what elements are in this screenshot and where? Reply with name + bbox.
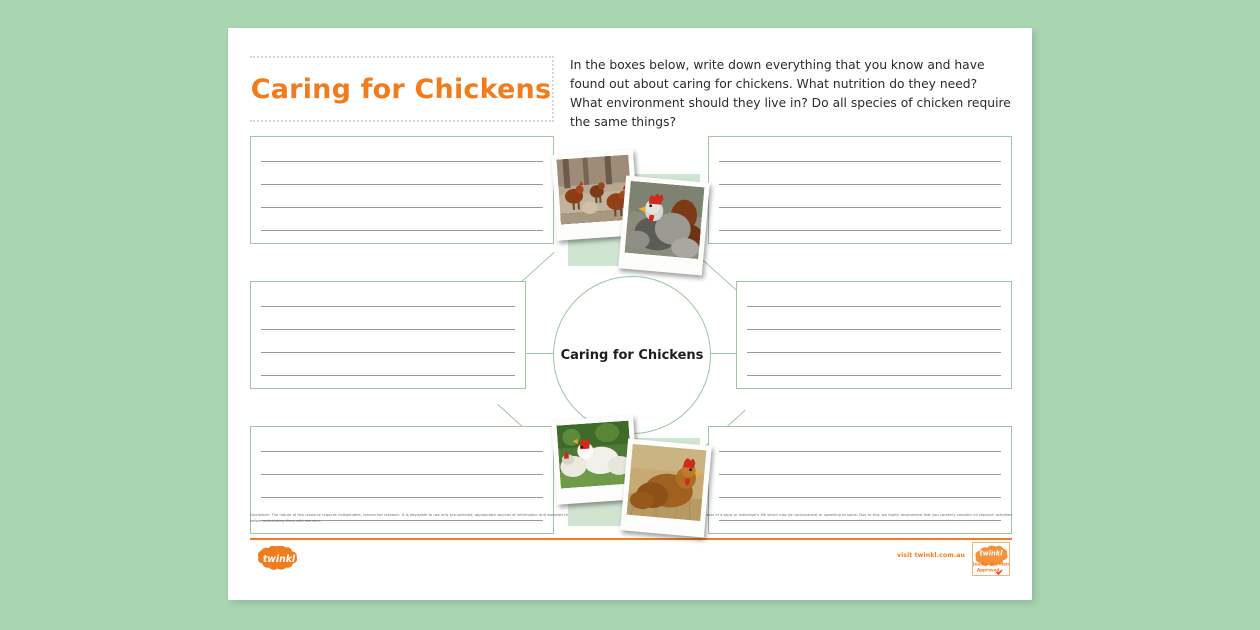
photo-hens-in-barn-image (556, 155, 632, 225)
worksheet-page: Caring for Chickens In the boxes below, … (228, 28, 1032, 600)
mindmap-center-circle: Caring for Chickens (553, 276, 711, 434)
photo-cluster-top (550, 152, 720, 277)
worksheet-header: Caring for Chickens In the boxes below, … (250, 56, 1012, 118)
instructions-text: In the boxes below, write down everythin… (570, 56, 1012, 132)
writing-lines (261, 137, 543, 243)
writing-box-middle-left[interactable] (250, 281, 526, 389)
quality-standard-badge-icon: twinkl Quality Standard Approved (973, 543, 1009, 575)
badge-line1: Quality Standard (973, 562, 1009, 567)
svg-text:twinkl: twinkl (980, 549, 1004, 557)
worksheet-screenshot: Caring for Chickens In the boxes below, … (0, 0, 1260, 630)
quality-standard-badge: twinkl Quality Standard Approved (972, 542, 1010, 576)
writing-lines (719, 137, 1001, 243)
mindmap-center-label: Caring for Chickens (561, 348, 704, 363)
photo-cluster-bottom (550, 418, 720, 540)
mindmap-area: Caring for Chickens (250, 136, 1012, 534)
writing-box-top-left[interactable] (250, 136, 554, 244)
writing-lines (747, 282, 1001, 388)
badge-line2: Approved (977, 567, 1000, 572)
photo-brown-hen-straw-image (627, 444, 707, 521)
photo-brown-hen-straw (620, 439, 712, 538)
twinkl-wordmark: twinkl (263, 554, 296, 565)
writing-box-top-right[interactable] (708, 136, 1012, 244)
photo-grey-rooster (618, 176, 710, 276)
visit-url-text[interactable]: visit twinkl.com.au (883, 552, 965, 559)
twinkl-cloud-icon: twinkl (252, 546, 306, 572)
photo-grey-rooster-image (624, 181, 704, 259)
title-container: Caring for Chickens (250, 56, 554, 122)
writing-lines (261, 282, 515, 388)
writing-box-middle-right[interactable] (736, 281, 1012, 389)
photo-white-hens-grass-image (557, 421, 633, 489)
page-title: Caring for Chickens (251, 74, 552, 105)
twinkl-logo[interactable]: twinkl (252, 546, 306, 572)
